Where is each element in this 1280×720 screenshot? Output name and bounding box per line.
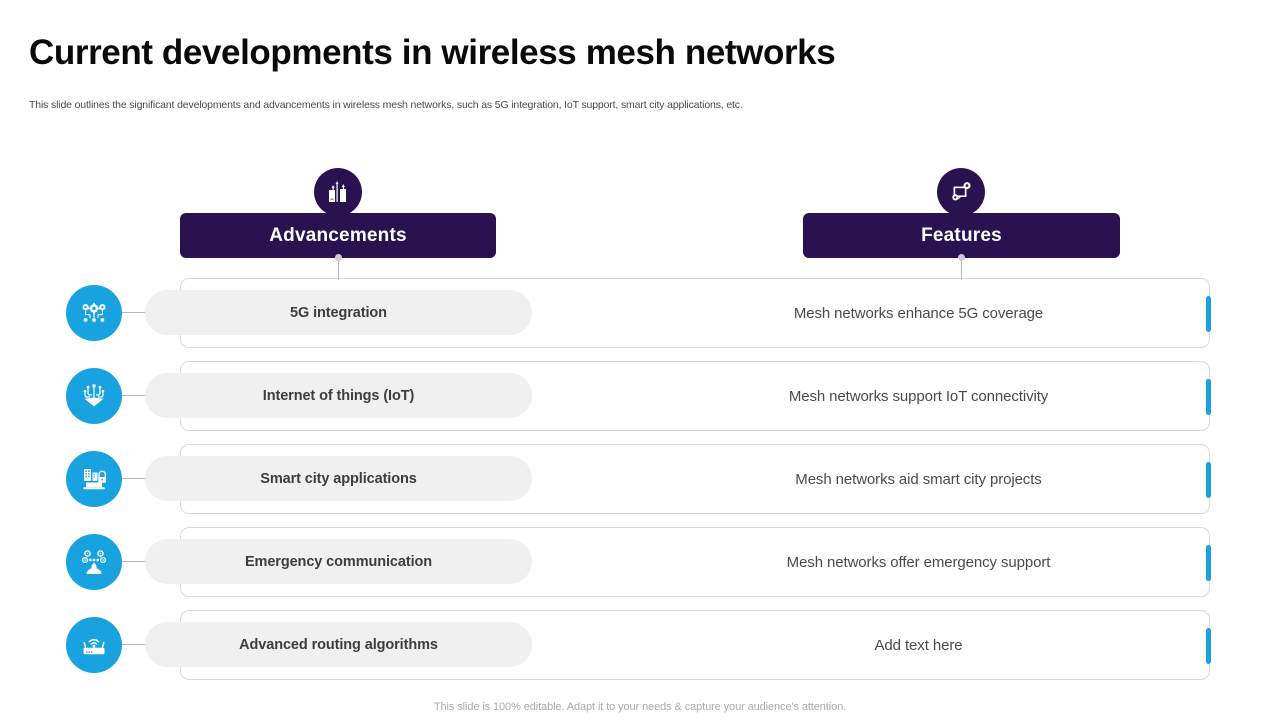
advancement-label: Advanced routing algorithms bbox=[239, 637, 438, 653]
advancement-label: Smart city applications bbox=[260, 471, 416, 487]
emergency-broadcast-icon bbox=[66, 534, 122, 590]
column-badge-advancements bbox=[314, 168, 362, 216]
advancement-pill[interactable]: Emergency communication bbox=[145, 539, 532, 584]
header-stem-advancements bbox=[338, 258, 339, 280]
monitor-gear-icon bbox=[948, 179, 974, 205]
table-row: Emergency communication Mesh networks of… bbox=[66, 527, 1216, 597]
advancement-label: Emergency communication bbox=[245, 554, 432, 570]
header-stem-features bbox=[961, 258, 962, 280]
advancement-pill[interactable]: Advanced routing algorithms bbox=[145, 622, 532, 667]
column-header-features[interactable]: Features bbox=[803, 213, 1120, 258]
header-stem-dot-advancements bbox=[335, 254, 342, 261]
growth-chart-icon bbox=[325, 179, 351, 205]
wifi-router-icon bbox=[66, 617, 122, 673]
column-header-advancements[interactable]: Advancements bbox=[180, 213, 496, 258]
page-subtitle: This slide outlines the significant deve… bbox=[29, 99, 743, 111]
feature-cell[interactable]: Mesh networks support IoT connectivity bbox=[626, 361, 1211, 431]
slide-canvas: Current developments in wireless mesh ne… bbox=[0, 0, 1280, 720]
table-row: Smart city applications Mesh networks ai… bbox=[66, 444, 1216, 514]
advancement-pill[interactable]: 5G integration bbox=[145, 290, 532, 335]
feature-label: Mesh networks aid smart city projects bbox=[795, 471, 1041, 488]
table-row: Internet of things (IoT) Mesh networks s… bbox=[66, 361, 1216, 431]
feature-cell[interactable]: Mesh networks offer emergency support bbox=[626, 527, 1211, 597]
feature-label: Mesh networks enhance 5G coverage bbox=[794, 305, 1043, 322]
feature-cell[interactable]: Add text here bbox=[626, 610, 1211, 680]
advancement-pill[interactable]: Internet of things (IoT) bbox=[145, 373, 532, 418]
column-header-label: Features bbox=[921, 225, 1002, 247]
advancement-pill[interactable]: Smart city applications bbox=[145, 456, 532, 501]
table-row: 5G integration Mesh networks enhance 5G … bbox=[66, 278, 1216, 348]
smart-city-laptop-icon bbox=[66, 451, 122, 507]
column-badge-features bbox=[937, 168, 985, 216]
column-header-label: Advancements bbox=[269, 225, 407, 247]
advancement-label: Internet of things (IoT) bbox=[263, 388, 414, 404]
gear-network-icon bbox=[66, 285, 122, 341]
table-row: Advanced routing algorithms Add text her… bbox=[66, 610, 1216, 680]
feature-cell[interactable]: Mesh networks enhance 5G coverage bbox=[626, 278, 1211, 348]
advancement-label: 5G integration bbox=[290, 305, 387, 321]
header-stem-dot-features bbox=[958, 254, 965, 261]
feature-label: Add text here bbox=[875, 637, 963, 654]
feature-label: Mesh networks offer emergency support bbox=[787, 554, 1051, 571]
footer-note: This slide is 100% editable. Adapt it to… bbox=[0, 701, 1280, 713]
feature-cell[interactable]: Mesh networks aid smart city projects bbox=[626, 444, 1211, 514]
page-title: Current developments in wireless mesh ne… bbox=[29, 33, 835, 73]
iot-hub-icon bbox=[66, 368, 122, 424]
feature-label: Mesh networks support IoT connectivity bbox=[789, 388, 1048, 405]
